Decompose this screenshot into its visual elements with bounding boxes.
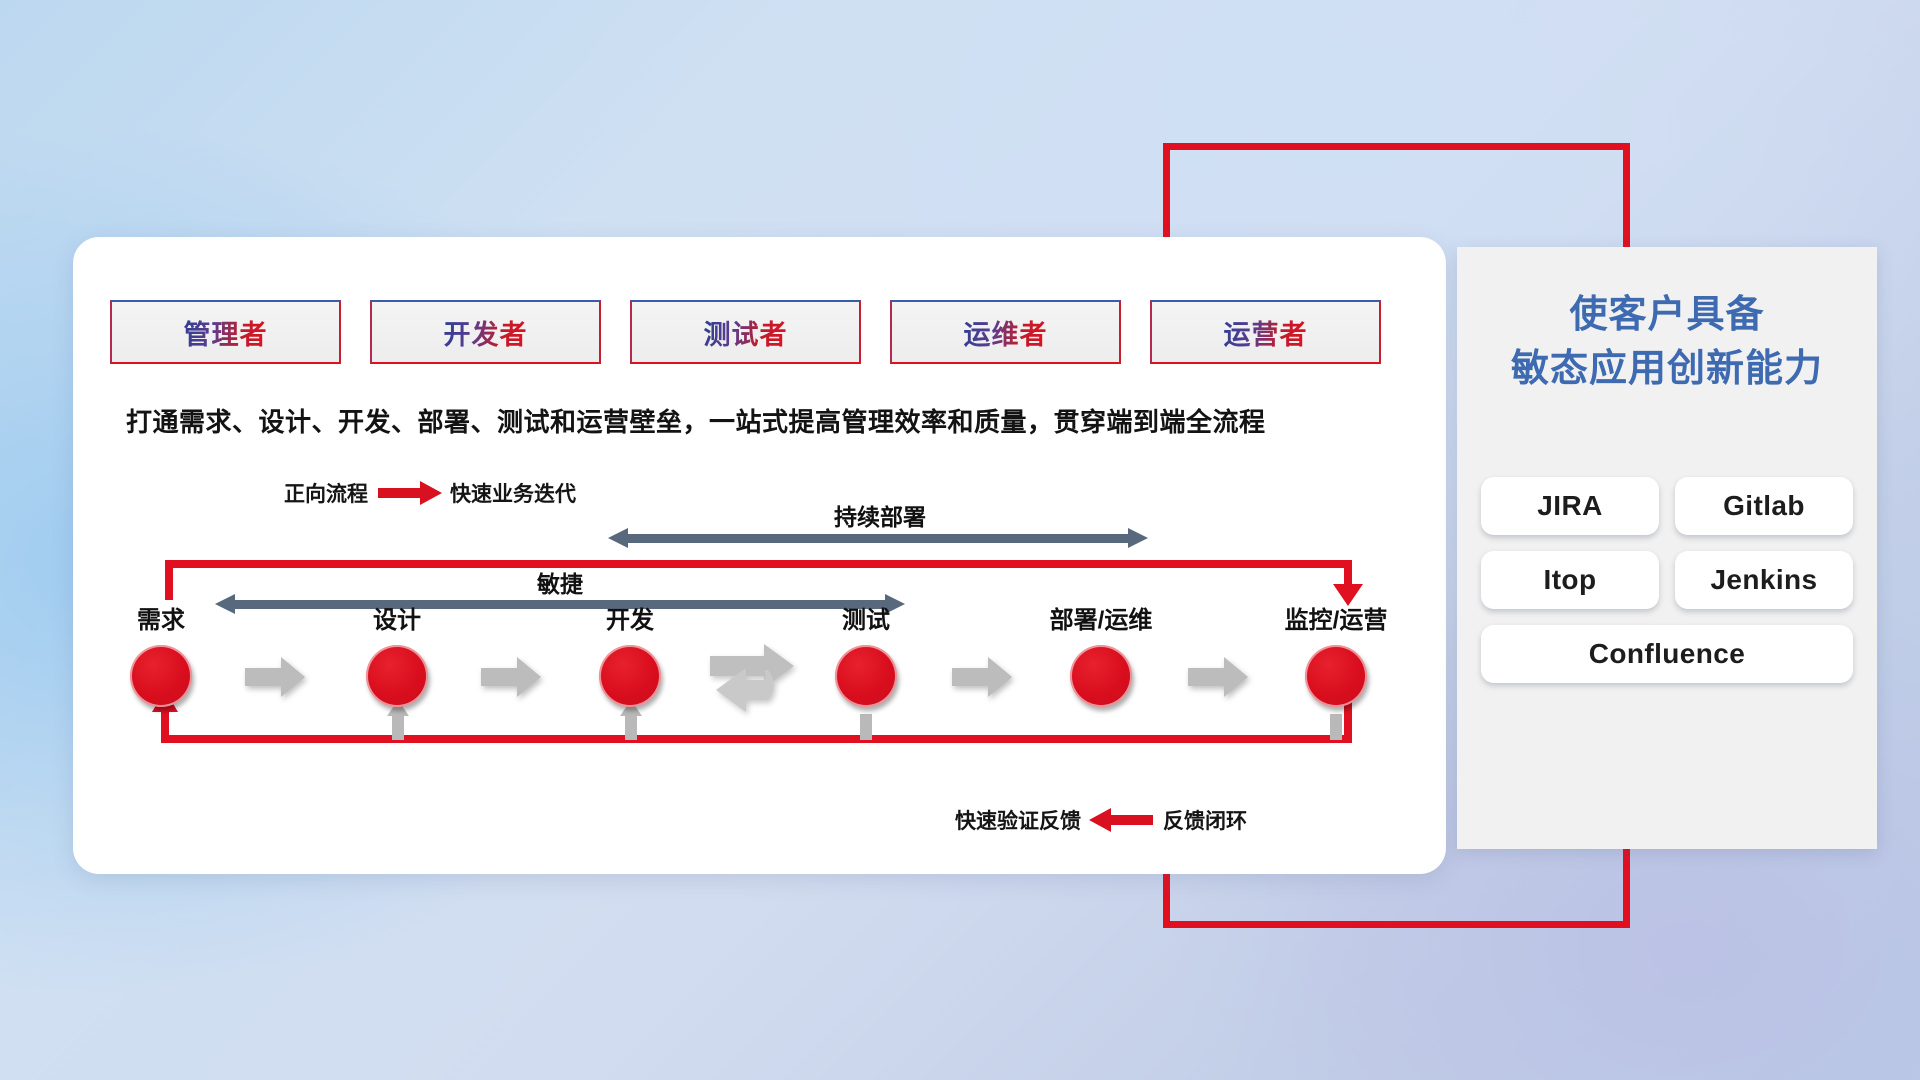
feedback-loop-riser-left: [161, 710, 169, 743]
feedback-loop-bottom: [165, 735, 1352, 743]
role-box-business[interactable]: 运营者: [1150, 300, 1381, 364]
stage-label: 设计: [373, 600, 421, 635]
panel-title: 使客户具备 敏态应用创新能力: [1457, 289, 1877, 397]
arrow-shaft: [392, 714, 404, 740]
stage-dot: [1305, 645, 1367, 707]
stage-deploy-ops[interactable]: 部署/运维: [1070, 645, 1132, 707]
tool-label: Confluence: [1589, 638, 1745, 670]
arrow-head-left-icon: [215, 594, 235, 614]
stage-label: 需求: [137, 600, 185, 635]
stage-requirement[interactable]: 需求: [130, 645, 192, 707]
tool-confluence[interactable]: Confluence: [1481, 625, 1853, 683]
feedback-loop-right: [1344, 560, 1352, 586]
stage-monitor-operate[interactable]: 监控/运营: [1305, 645, 1367, 707]
role-label: 管理者: [184, 313, 268, 352]
feedback-loop-left: [165, 560, 173, 600]
panel-title-line2: 敏态应用创新能力: [1457, 343, 1877, 397]
role-box-developer[interactable]: 开发者: [370, 300, 601, 364]
tool-gitlab[interactable]: Gitlab: [1675, 477, 1853, 535]
role-label: 运营者: [1224, 313, 1308, 352]
forward-flow-legend: 正向流程 快速业务迭代: [284, 478, 576, 508]
chevron-design-to-develop: [481, 657, 541, 697]
tool-label: Jenkins: [1710, 564, 1817, 596]
arrow-head-right-icon: [1128, 528, 1148, 548]
continuous-deployment-arrow: [608, 528, 1148, 548]
chevron-deploy-to-monitor: [1188, 657, 1248, 697]
stage-dot: [366, 645, 428, 707]
forward-flow-from: 正向流程: [284, 478, 368, 508]
arrow-shaft: [626, 534, 1130, 543]
stage-develop[interactable]: 开发: [599, 645, 661, 707]
role-box-operations[interactable]: 运维者: [890, 300, 1121, 364]
tool-jira[interactable]: JIRA: [1481, 477, 1659, 535]
tool-label: Itop: [1544, 564, 1597, 596]
tool-jenkins[interactable]: Jenkins: [1675, 551, 1853, 609]
arrow-shaft: [1330, 714, 1342, 740]
stage-label: 监控/运营: [1285, 600, 1388, 635]
chevron-test-to-deploy: [952, 657, 1012, 697]
feedback-to: 反馈闭环: [1163, 805, 1247, 835]
arrow-shaft: [233, 600, 887, 609]
stage-dot: [1070, 645, 1132, 707]
feedback-loop-top: [165, 560, 1352, 568]
role-label: 测试者: [704, 313, 788, 352]
stage-dot: [599, 645, 661, 707]
panel-title-line1: 使客户具备: [1457, 289, 1877, 343]
arrow-shaft: [860, 714, 872, 740]
chevron-requirement-to-design: [245, 657, 305, 697]
right-tools-panel: 使客户具备 敏态应用创新能力 JIRA Gitlab Itop Jenkins …: [1457, 247, 1877, 849]
tool-label: JIRA: [1537, 490, 1602, 522]
stage-design[interactable]: 设计: [366, 645, 428, 707]
stage-label: 开发: [606, 600, 654, 635]
tool-itop[interactable]: Itop: [1481, 551, 1659, 609]
tools-grid: JIRA Gitlab Itop Jenkins Confluence: [1481, 477, 1853, 683]
stage-dot: [835, 645, 897, 707]
role-box-tester[interactable]: 测试者: [630, 300, 861, 364]
arrow-head-left-icon: [608, 528, 628, 548]
description-text: 打通需求、设计、开发、部署、测试和运营壁垒，一站式提高管理效率和质量，贯穿端到端…: [126, 402, 1266, 439]
stage-label: 部署/运维: [1050, 600, 1153, 635]
stage-test[interactable]: 测试: [835, 645, 897, 707]
agile-arrow: [215, 594, 905, 614]
forward-flow-to: 快速业务迭代: [450, 478, 576, 508]
tool-label: Gitlab: [1723, 490, 1805, 522]
role-box-manager[interactable]: 管理者: [110, 300, 341, 364]
role-label: 开发者: [444, 313, 528, 352]
feedback-from: 快速验证反馈: [955, 805, 1081, 835]
feedback-loop-legend: 快速验证反馈 反馈闭环: [955, 805, 1247, 835]
stage-dot: [130, 645, 192, 707]
continuous-deployment-label: 持续部署: [600, 498, 1160, 532]
cycle-arrow-icon: [706, 640, 802, 726]
role-boxes-row: 管理者 开发者 测试者 运维者 运营者: [110, 300, 1381, 364]
arrow-shaft: [625, 714, 637, 740]
stage-label: 测试: [842, 600, 890, 635]
role-label: 运维者: [964, 313, 1048, 352]
